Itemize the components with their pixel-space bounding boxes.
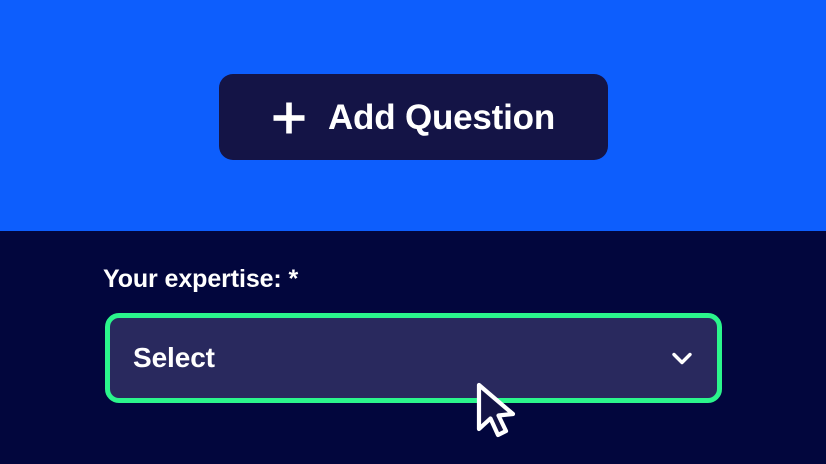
- add-question-label: Add Question: [328, 100, 555, 135]
- required-asterisk: *: [289, 265, 299, 293]
- add-question-button[interactable]: Add Question: [219, 74, 608, 160]
- expertise-select[interactable]: Select: [105, 313, 722, 403]
- plus-icon: [272, 101, 306, 135]
- app-screen: Add Question Your expertise: * Select: [0, 0, 826, 464]
- expertise-field-label: Your expertise: *: [103, 266, 298, 294]
- chevron-down-icon[interactable]: [669, 345, 695, 371]
- expertise-select-value: Select: [133, 344, 215, 372]
- expertise-label-text: Your expertise:: [103, 265, 282, 293]
